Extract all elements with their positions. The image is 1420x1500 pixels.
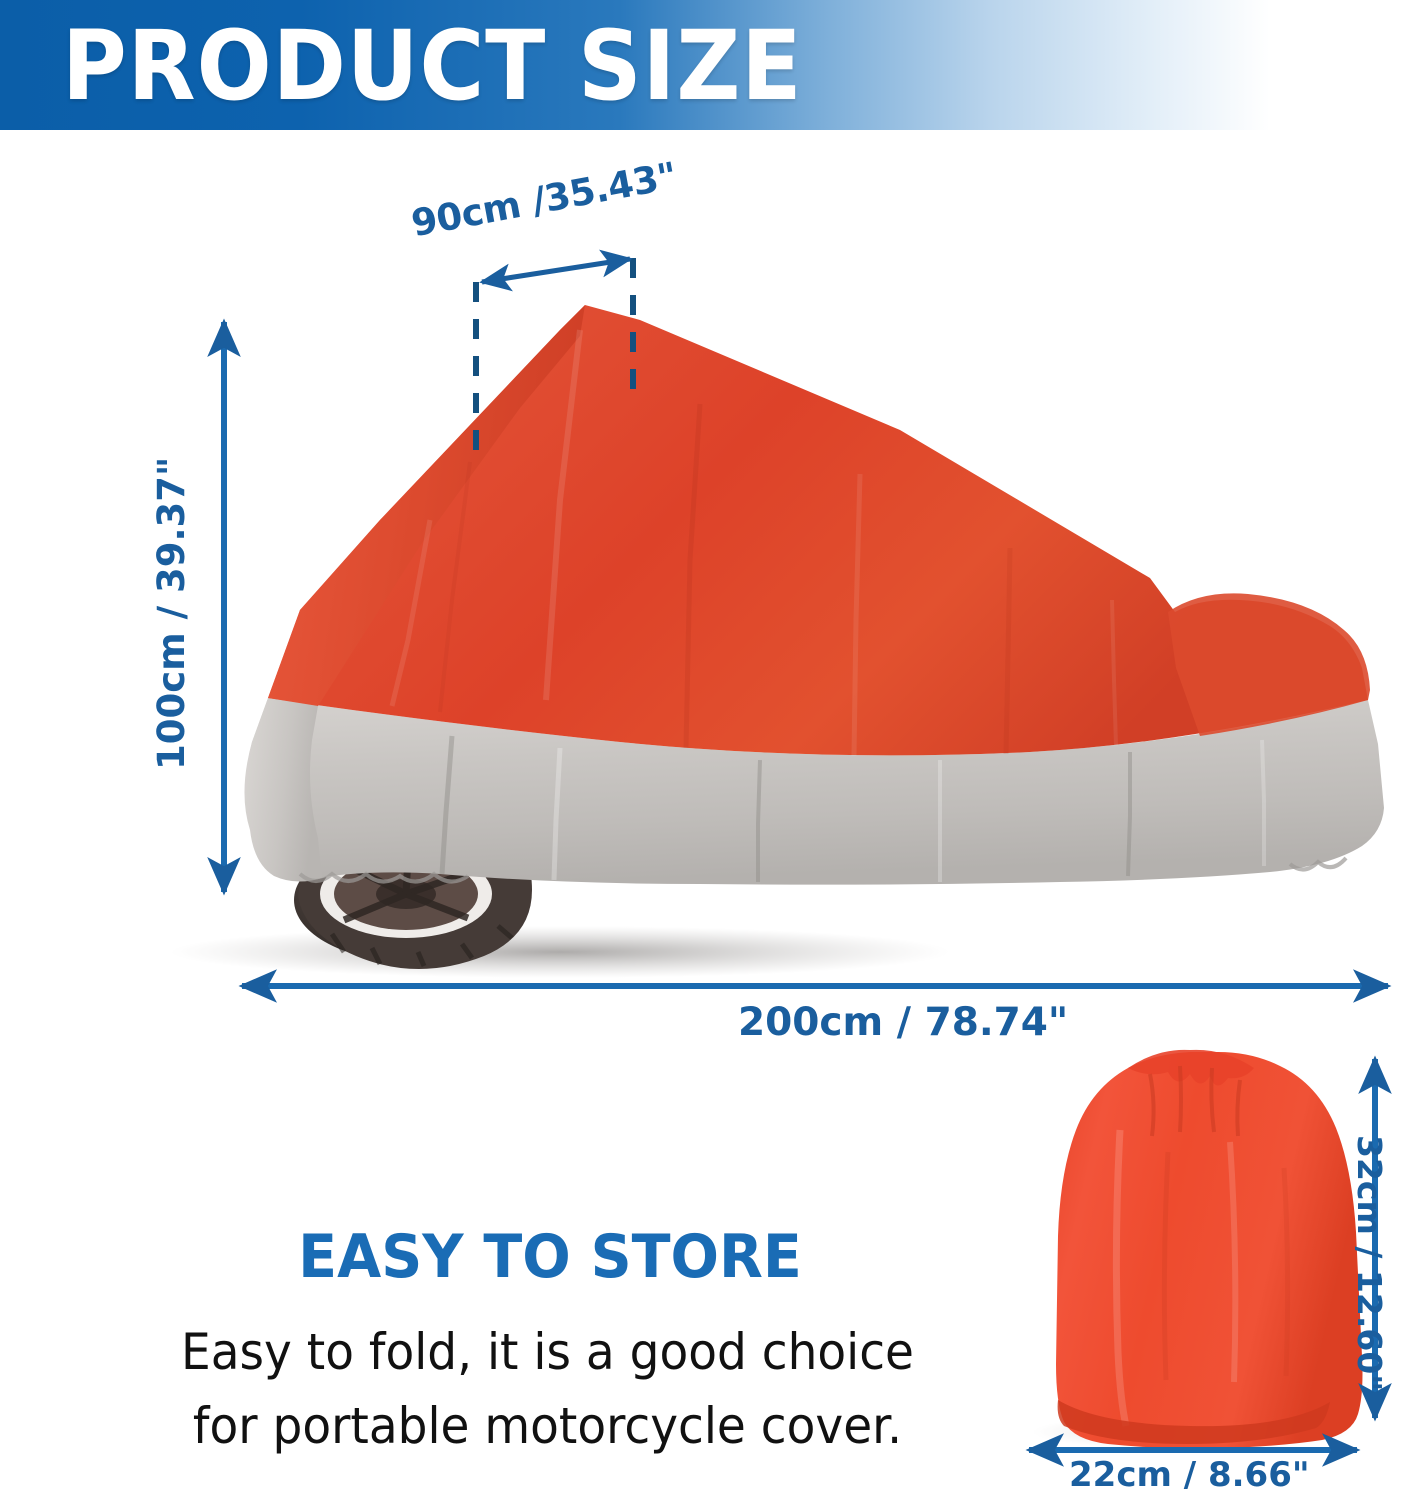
easy-to-store-body-line-1: Easy to fold, it is a good choice (122, 1315, 973, 1389)
easy-to-store-heading: EASY TO STORE (123, 1222, 978, 1292)
dimension-label-bag-height: 32cm / 12.60" (1350, 1135, 1389, 1391)
cover-ground-shadow (170, 926, 950, 978)
dimension-label-cover-height: 100cm / 39.37" (150, 457, 193, 770)
easy-to-store-body-line-2: for portable motorcycle cover. (122, 1389, 973, 1463)
easy-to-store-body: Easy to fold, it is a good choice for po… (122, 1315, 973, 1463)
storage-bag (1056, 1050, 1363, 1449)
dimension-label-cover-length: 200cm / 78.74" (738, 1000, 1068, 1045)
product-size-infographic: PRODUCT SIZE (0, 0, 1420, 1500)
dimension-label-bag-width: 22cm / 8.66" (1069, 1455, 1310, 1495)
cover-silver-front-drape (244, 698, 322, 882)
